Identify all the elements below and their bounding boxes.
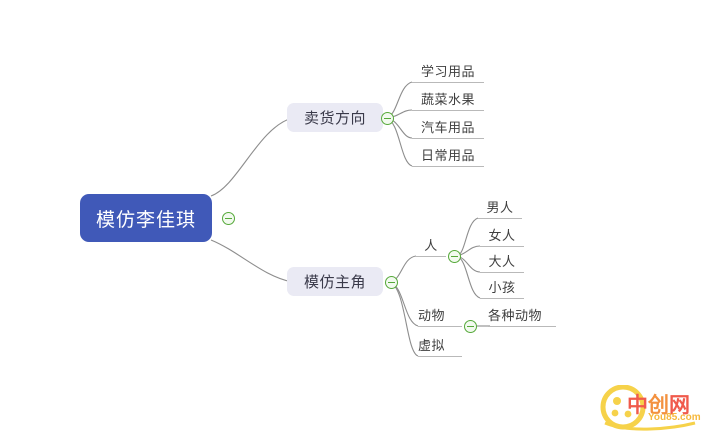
node-sub-1-leaf-3-label: 大人 <box>488 251 515 270</box>
node-sub-1-leaf-4-label: 小孩 <box>488 277 515 296</box>
node-sub-1-leaf-3[interactable]: 大人 <box>480 250 524 273</box>
node-root-label: 模仿李佳琪 <box>96 205 196 232</box>
node-sub-2-leaf-1[interactable]: 各种动物 <box>488 304 556 327</box>
node-sub-2-leaf-1-label: 各种动物 <box>488 305 542 324</box>
edge-sub-1-to-leaf-1 <box>457 218 478 256</box>
collapse-toggle-sub-1[interactable] <box>448 250 461 263</box>
watermark: 中创网 You85.com <box>599 385 699 431</box>
collapse-toggle-sub-2[interactable] <box>464 320 477 333</box>
collapse-toggle-branch-2[interactable] <box>385 276 398 289</box>
mindmap-canvas[interactable]: 模仿李佳琪 卖货方向 学习用品 蔬菜水果 汽车用品 日常用品 模仿主角 人 男人… <box>0 0 705 437</box>
node-branch-2-sub-2-label: 动物 <box>418 305 445 324</box>
edge-sub-1-to-leaf-4 <box>457 256 480 298</box>
node-branch-2-label: 模仿主角 <box>304 271 366 292</box>
node-branch-1-leaf-4-label: 日常用品 <box>421 145 475 164</box>
edge-branch-2-to-sub-2 <box>390 282 418 326</box>
node-branch-1[interactable]: 卖货方向 <box>287 103 383 132</box>
node-branch-2-sub-1-label: 人 <box>424 235 438 254</box>
edge-branch-1-to-leaf-4 <box>386 118 412 166</box>
node-branch-1-leaf-1[interactable]: 学习用品 <box>412 60 484 83</box>
node-sub-1-leaf-1-label: 男人 <box>486 197 513 216</box>
edge-branch-2-to-sub-3 <box>390 282 418 356</box>
node-root[interactable]: 模仿李佳琪 <box>80 194 212 242</box>
watermark-char-1: 中 <box>627 394 648 417</box>
node-branch-2-sub-2[interactable]: 动物 <box>418 304 462 327</box>
node-branch-1-leaf-1-label: 学习用品 <box>421 61 475 80</box>
edge-root-to-branch-2 <box>211 240 292 282</box>
node-sub-1-leaf-2[interactable]: 女人 <box>480 224 524 247</box>
edge-root-to-branch-1 <box>211 118 292 196</box>
collapse-toggle-branch-1[interactable] <box>381 112 394 125</box>
node-branch-2-sub-1[interactable]: 人 <box>416 234 446 257</box>
watermark-site: You85.com <box>648 412 701 423</box>
node-sub-1-leaf-4[interactable]: 小孩 <box>480 276 524 299</box>
node-branch-1-leaf-2[interactable]: 蔬菜水果 <box>412 88 484 111</box>
node-branch-1-leaf-3-label: 汽车用品 <box>421 117 475 136</box>
node-branch-2[interactable]: 模仿主角 <box>287 267 383 296</box>
node-sub-1-leaf-2-label: 女人 <box>488 225 515 244</box>
node-branch-1-leaf-4[interactable]: 日常用品 <box>412 144 484 167</box>
collapse-toggle-root[interactable] <box>222 212 235 225</box>
node-branch-1-leaf-2-label: 蔬菜水果 <box>421 89 475 108</box>
node-branch-2-sub-3-label: 虚拟 <box>418 335 445 354</box>
node-branch-2-sub-3[interactable]: 虚拟 <box>418 334 462 357</box>
node-sub-1-leaf-1[interactable]: 男人 <box>478 196 522 219</box>
node-branch-1-leaf-3[interactable]: 汽车用品 <box>412 116 484 139</box>
node-branch-1-label: 卖货方向 <box>304 107 366 128</box>
